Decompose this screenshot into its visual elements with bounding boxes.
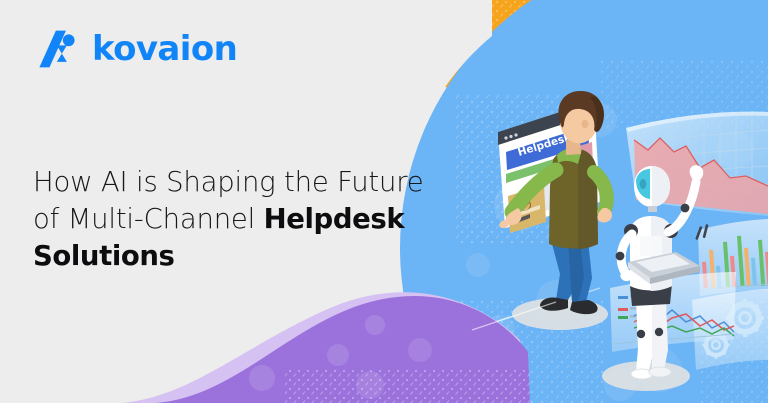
kovaion-logo[interactable]: kovaion — [38, 27, 237, 71]
page-title: How AI is Shaping the Future of Multi-Ch… — [33, 164, 463, 275]
kovaion-logo-wordmark: kovaion — [92, 32, 237, 66]
headline-line-1: How AI is Shaping the Future — [33, 164, 463, 201]
headline-line-2-regular: of Multi-Channel — [33, 203, 264, 235]
headline-line-2-bold: Helpdesk — [264, 203, 405, 235]
blog-hero-banner: Helpdesk — [0, 0, 768, 403]
headline-line-3-bold: Solutions — [33, 238, 463, 275]
line-chart-screen — [610, 272, 736, 352]
headline-line-2: of Multi-Channel Helpdesk — [33, 201, 463, 238]
kovaion-k-mark-icon — [38, 27, 82, 71]
